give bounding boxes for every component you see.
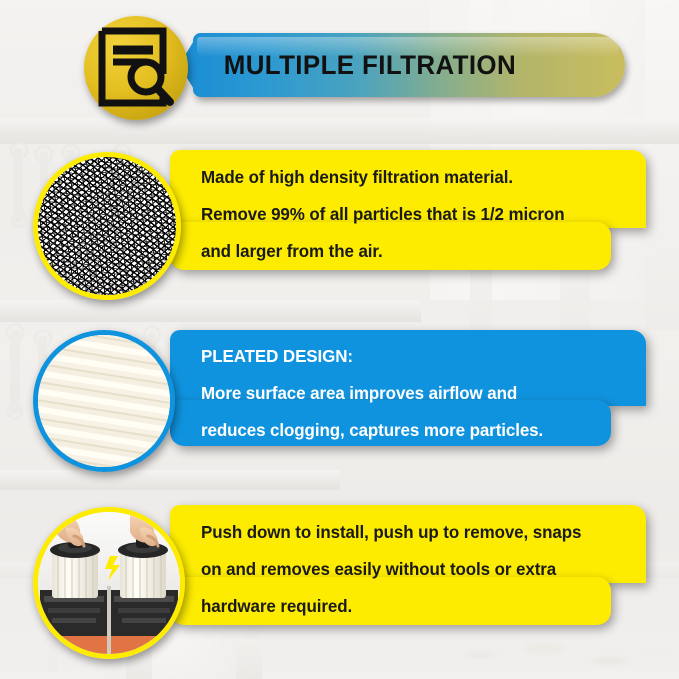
document-magnifier-icon	[97, 27, 175, 109]
page-title: MULTIPLE FILTRATION	[193, 33, 608, 97]
feature-line: Made of high density filtration material…	[201, 159, 608, 196]
header: MULTIPLE FILTRATION	[0, 0, 679, 130]
feature-line: Push down to install, push up to remove,…	[201, 514, 608, 551]
feature-heading: PLEATED DESIGN:	[201, 338, 608, 375]
feature-text: Made of high density filtration material…	[201, 159, 608, 270]
feature-line: More surface area improves airflow and	[201, 375, 608, 412]
feature-image-pleated-filter-media	[33, 330, 175, 472]
header-banner: MULTIPLE FILTRATION	[193, 33, 625, 97]
feature-line: Remove 99% of all particles that is 1/2 …	[201, 196, 608, 233]
feature-row-filtration-material: Made of high density filtration material…	[0, 150, 679, 315]
install-illustration-icon	[38, 512, 180, 654]
feature-row-pleated-design: PLEATED DESIGN: More surface area improv…	[0, 330, 679, 492]
install-photo	[38, 512, 180, 654]
feature-row-tool-free-install: Push down to install, push up to remove,…	[0, 505, 679, 673]
feature-image-fiber-filter-media	[33, 152, 181, 300]
fiber-media-texture	[38, 157, 176, 295]
feature-image-hands-installing-filter	[33, 507, 185, 659]
feature-line: and larger from the air.	[201, 233, 608, 270]
feature-line: on and removes easily without tools or e…	[201, 551, 608, 588]
header-icon-badge	[84, 16, 188, 120]
feature-line: reduces clogging, captures more particle…	[201, 412, 608, 449]
pleated-media-texture	[38, 335, 170, 467]
feature-text: PLEATED DESIGN: More surface area improv…	[201, 338, 608, 449]
feature-text: Push down to install, push up to remove,…	[201, 514, 608, 625]
feature-line: hardware required.	[201, 588, 608, 625]
